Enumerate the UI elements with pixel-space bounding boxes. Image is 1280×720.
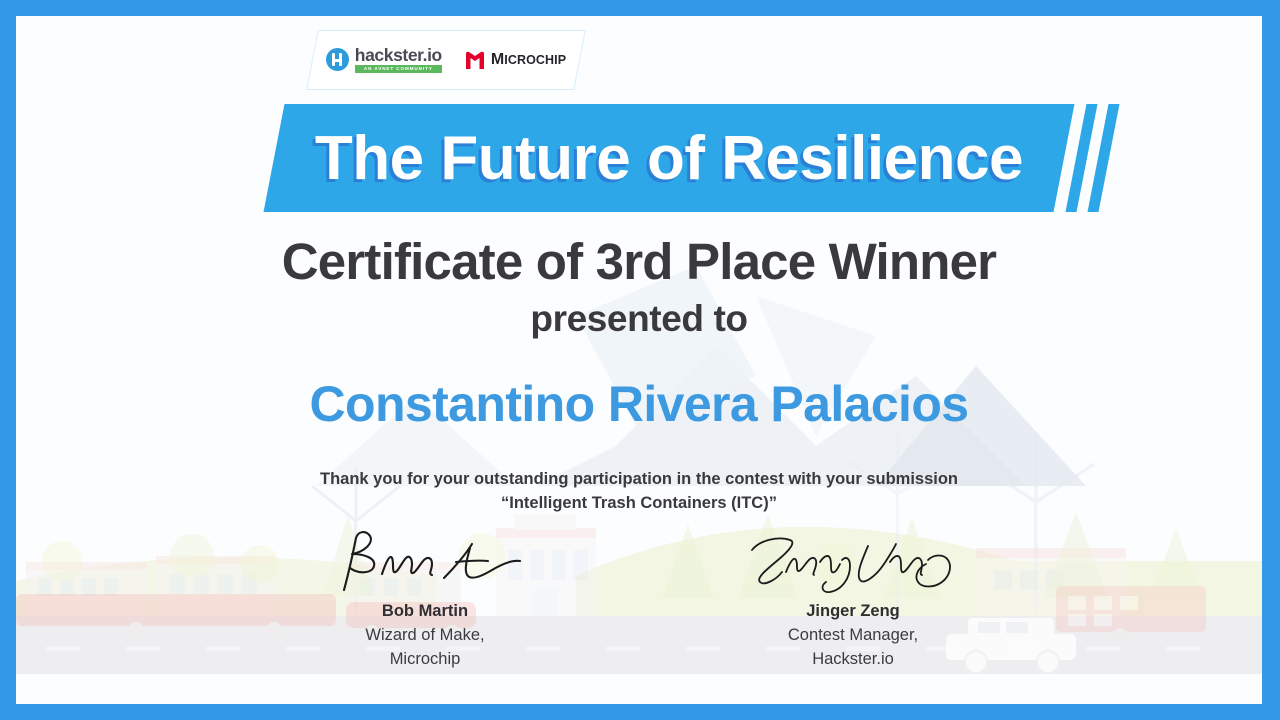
hackster-tagline: AN AVNET COMMUNITY	[355, 65, 442, 73]
signer-name: Jinger Zeng	[713, 600, 993, 624]
certificate-content: Certificate of 3rd Place Winner presente…	[16, 212, 1262, 516]
hackster-logo: hackster.io AN AVNET COMMUNITY	[326, 47, 442, 73]
microchip-wordmark-initial: M	[491, 51, 504, 68]
microchip-m-icon	[464, 50, 486, 71]
recipient-name: Constantino Rivera Palacios	[16, 377, 1262, 432]
signer-name: Bob Martin	[285, 600, 565, 624]
thanks-message: Thank you for your outstanding participa…	[16, 468, 1262, 516]
signer-role-line-1: Contest Manager,	[713, 624, 993, 648]
signature-row: Bob Martin Wizard of Make, Microchip	[16, 526, 1262, 672]
microchip-logo: MICROCHIP	[464, 50, 566, 71]
title-banner: The Future of Resilience	[264, 104, 1075, 212]
signer-role-line-1: Wizard of Make,	[285, 624, 565, 648]
signature-block-jinger-zeng: Jinger Zeng Contest Manager, Hackster.io	[713, 526, 993, 672]
thanks-line-1: Thank you for your outstanding participa…	[16, 468, 1262, 492]
project-title: “Intelligent Trash Containers (ITC)”	[16, 492, 1262, 516]
sponsor-logo-tab: hackster.io AN AVNET COMMUNITY MICROCHIP	[306, 30, 586, 90]
microchip-wordmark: MICROCHIP	[491, 52, 566, 68]
hackster-h-icon	[326, 48, 349, 71]
microchip-wordmark-rest: ICROCHIP	[504, 53, 566, 67]
title-banner-row: The Future of Resilience	[16, 104, 1262, 212]
signer-role-line-2: Microchip	[285, 648, 565, 672]
signature-mark-bob-martin	[285, 526, 565, 598]
hackster-wordmark: hackster.io	[355, 47, 442, 65]
certificate-title: Certificate of 3rd Place Winner	[16, 234, 1262, 289]
certificate-paper: hackster.io AN AVNET COMMUNITY MICROCHIP	[16, 16, 1262, 704]
signature-block-bob-martin: Bob Martin Wizard of Make, Microchip	[285, 526, 565, 672]
certificate: hackster.io AN AVNET COMMUNITY MICROCHIP	[0, 0, 1280, 720]
event-title: The Future of Resilience	[315, 123, 1023, 194]
signer-role-line-2: Hackster.io	[713, 648, 993, 672]
presented-to-label: presented to	[16, 297, 1262, 341]
signature-mark-jinger-zeng	[713, 526, 993, 598]
